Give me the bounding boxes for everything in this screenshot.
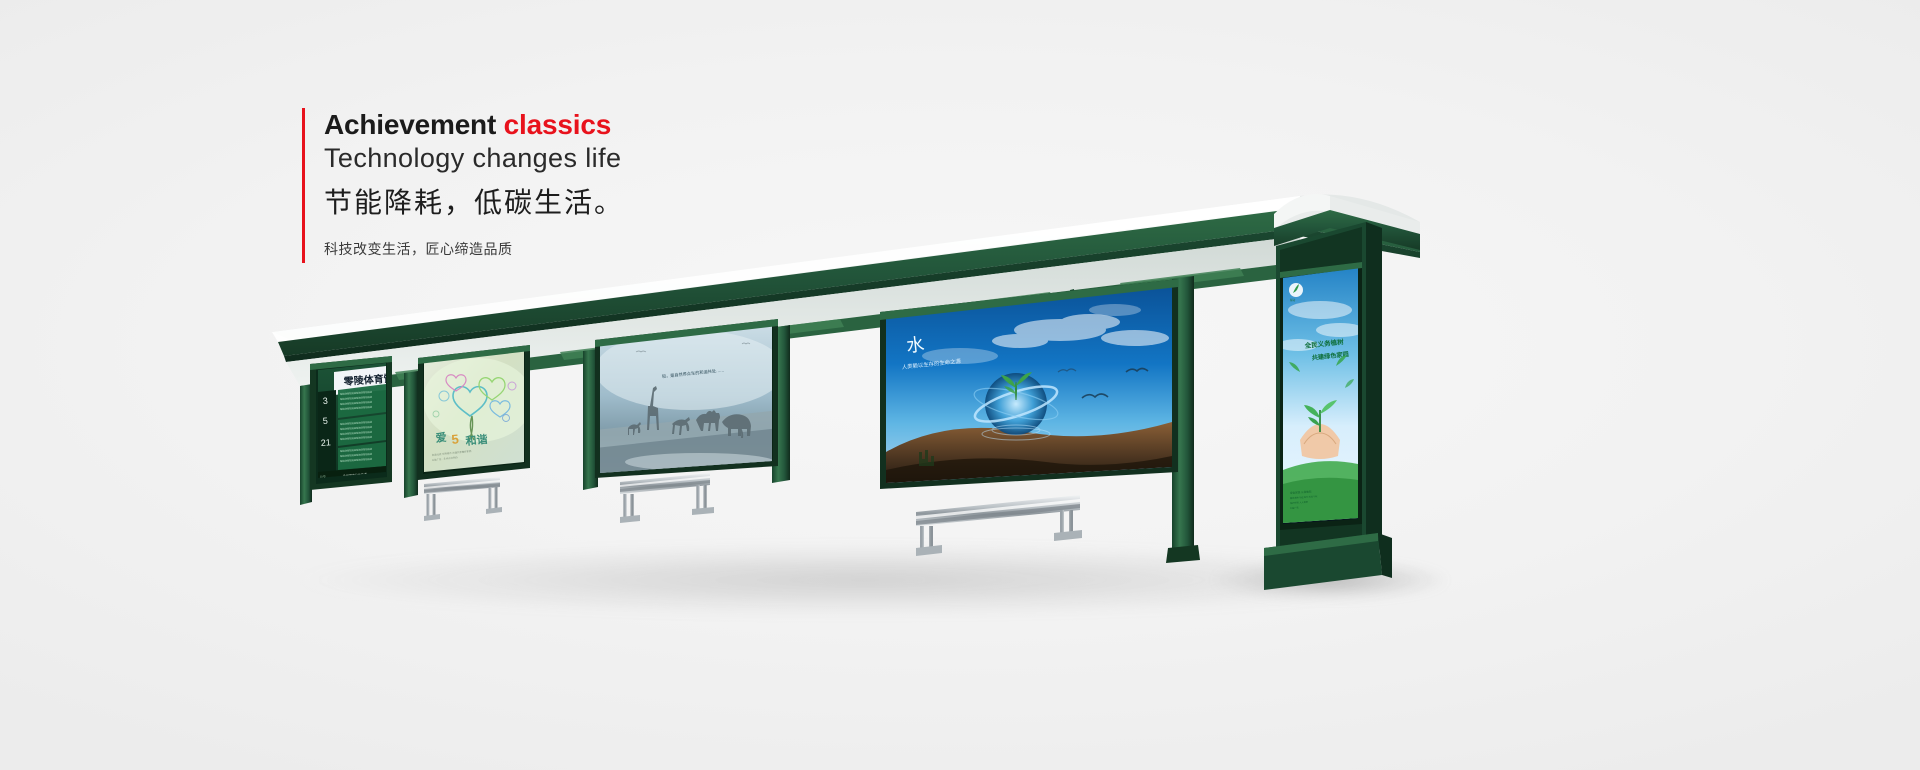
bench-2	[620, 473, 714, 523]
bench-3	[916, 495, 1082, 556]
panel-timetable[interactable]: 零陵体育馆 LingLing Gymnasium 3 5 21 站站站站站站站站…	[310, 355, 400, 490]
panel-tower-lightbox[interactable]: 绿动 全民义务植树 共建绿色家园	[1278, 262, 1365, 530]
svg-text:水: 水	[905, 334, 925, 356]
svg-text:爱: 爱	[435, 431, 447, 445]
svg-text:3: 3	[322, 396, 328, 406]
svg-text:绿动: 绿动	[1290, 298, 1296, 302]
bus-shelter-scene: 零陵体育馆 LingLing Gymnasium 3 5 21 站站站站站站站站…	[0, 0, 1920, 770]
svg-text:5: 5	[322, 416, 328, 426]
post-2	[404, 371, 418, 498]
svg-text:21: 21	[320, 437, 331, 448]
shelter-illustration: 零陵体育馆 LingLing Gymnasium 3 5 21 站站站站站站站站…	[0, 0, 1920, 770]
bench-1	[424, 477, 502, 521]
post-5-base	[1166, 545, 1200, 563]
panel-lightbox-1[interactable]: 爱 5 和谐 和谐社会 文明城市 共建共享美好家园 公益广告 · 永州市文明办	[418, 345, 533, 480]
panel-lightbox-2[interactable]: 和，是自然界众生的和谐共处……	[595, 319, 785, 479]
panel-lightbox-3[interactable]: 水 人类赖以生存的生命之源	[880, 279, 1180, 491]
